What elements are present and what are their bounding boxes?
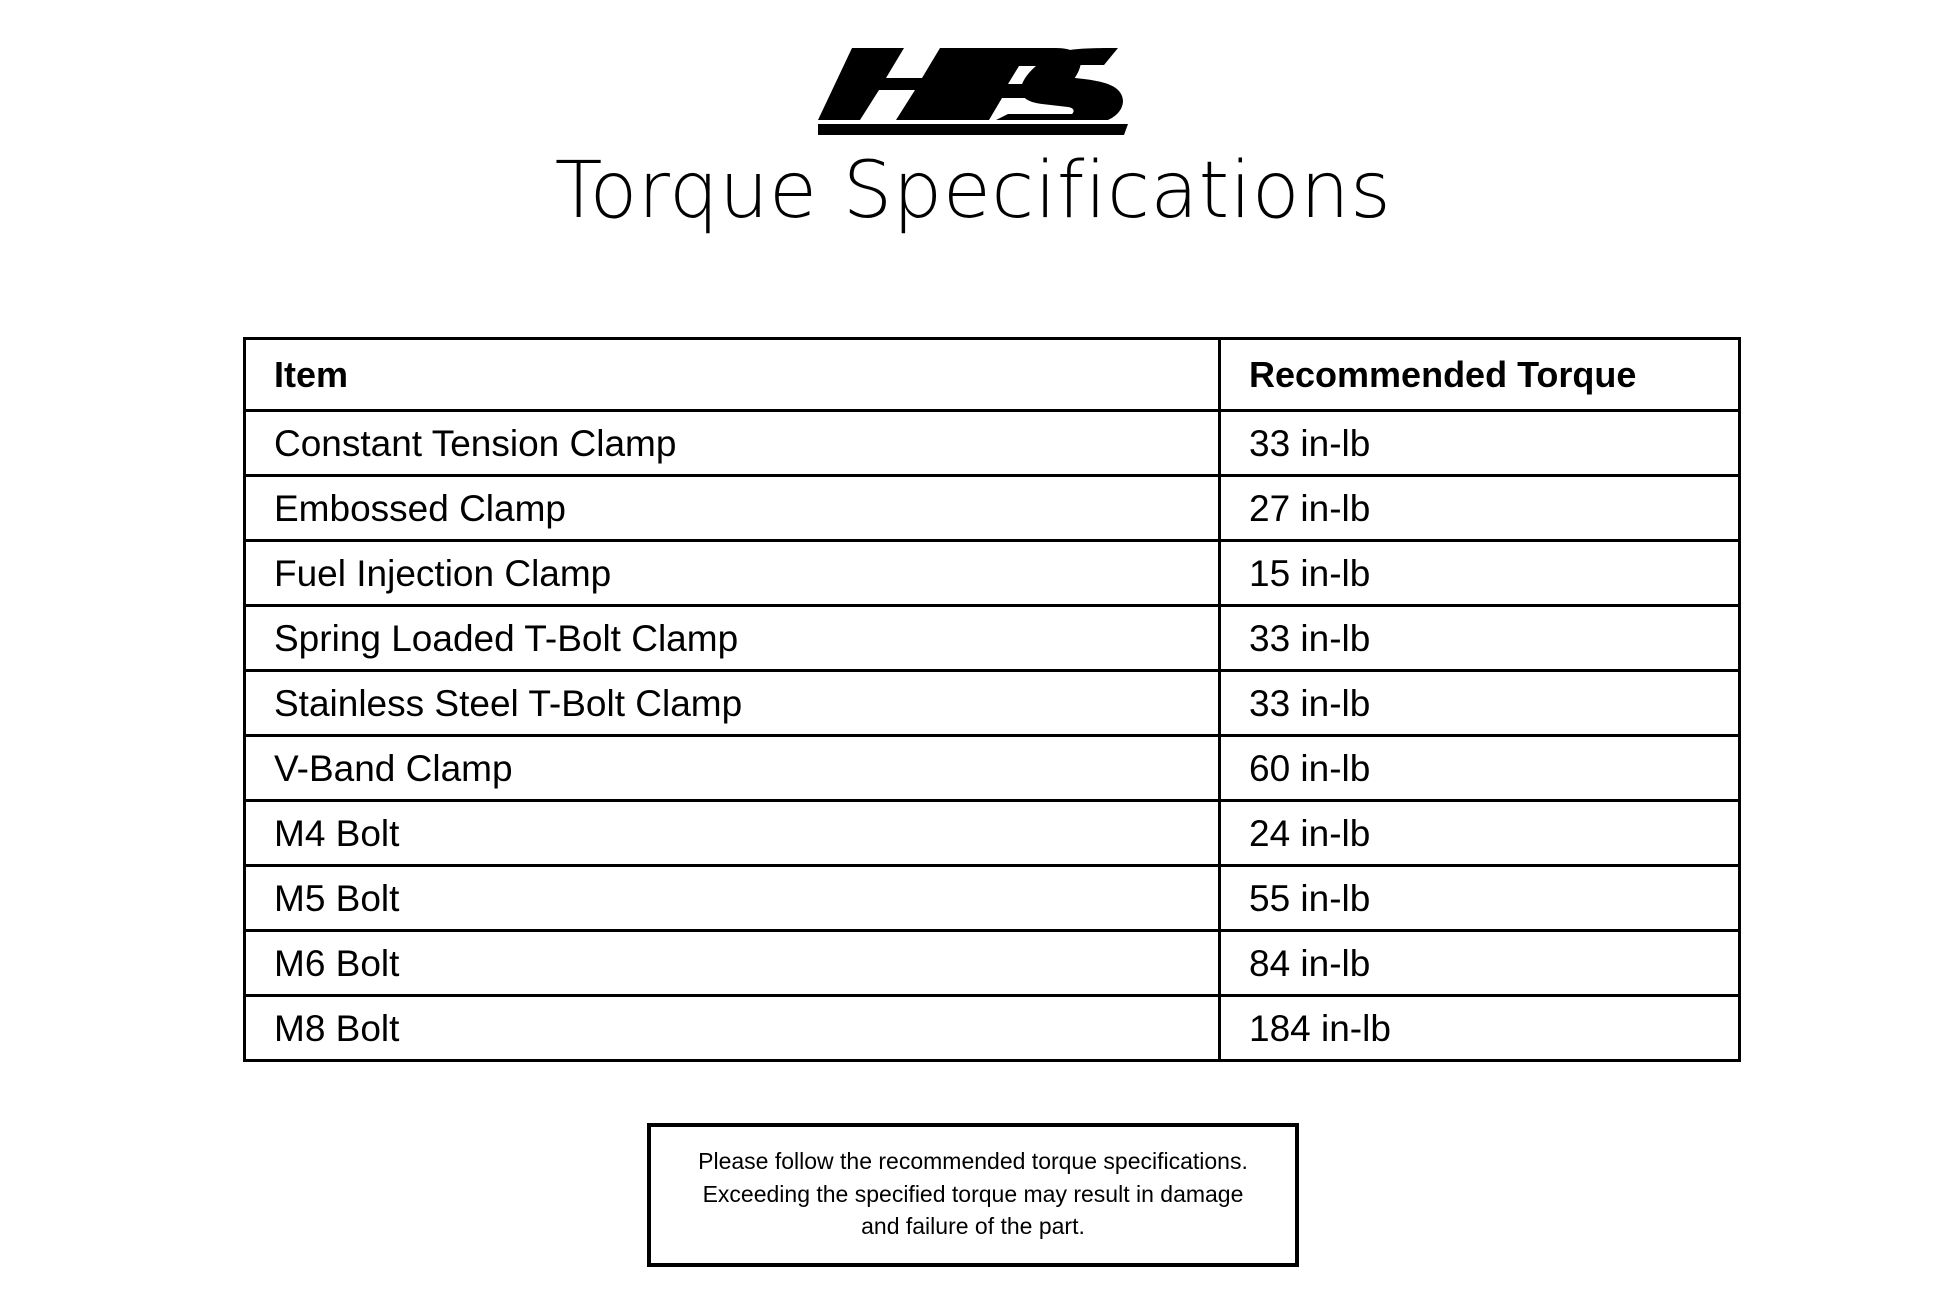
- table-row: Spring Loaded T-Bolt Clamp 33 in-lb: [245, 606, 1740, 671]
- warning-note-line: Exceeding the specified torque may resul…: [665, 1178, 1281, 1211]
- cell-torque: 184 in-lb: [1220, 996, 1740, 1061]
- cell-torque: 15 in-lb: [1220, 541, 1740, 606]
- cell-item: Embossed Clamp: [245, 476, 1220, 541]
- page-title: Torque Specifications: [0, 152, 1946, 230]
- cell-item: V-Band Clamp: [245, 736, 1220, 801]
- cell-torque: 27 in-lb: [1220, 476, 1740, 541]
- cell-item: Constant Tension Clamp: [245, 411, 1220, 476]
- brand-logo: [0, 34, 1946, 139]
- cell-item: Stainless Steel T-Bolt Clamp: [245, 671, 1220, 736]
- cell-torque: 24 in-lb: [1220, 801, 1740, 866]
- table-row: Stainless Steel T-Bolt Clamp 33 in-lb: [245, 671, 1740, 736]
- cell-item: Fuel Injection Clamp: [245, 541, 1220, 606]
- warning-note-box: Please follow the recommended torque spe…: [647, 1123, 1299, 1267]
- table-row: M5 Bolt 55 in-lb: [245, 866, 1740, 931]
- torque-specifications-table: Item Recommended Torque Constant Tension…: [243, 337, 1741, 1062]
- warning-note-line: and failure of the part.: [665, 1210, 1281, 1243]
- column-header-item: Item: [245, 339, 1220, 411]
- cell-item: M5 Bolt: [245, 866, 1220, 931]
- cell-item: M6 Bolt: [245, 931, 1220, 996]
- table-header-row: Item Recommended Torque: [245, 339, 1740, 411]
- hps-wordmark-logo: [818, 34, 1128, 136]
- warning-note-line: Please follow the recommended torque spe…: [665, 1145, 1281, 1178]
- cell-item: Spring Loaded T-Bolt Clamp: [245, 606, 1220, 671]
- cell-item: M8 Bolt: [245, 996, 1220, 1061]
- table-row: V-Band Clamp 60 in-lb: [245, 736, 1740, 801]
- cell-torque: 60 in-lb: [1220, 736, 1740, 801]
- table-row: Constant Tension Clamp 33 in-lb: [245, 411, 1740, 476]
- table-row: M4 Bolt 24 in-lb: [245, 801, 1740, 866]
- hps-logo-icon: [818, 34, 1128, 136]
- cell-item: M4 Bolt: [245, 801, 1220, 866]
- column-header-recommended-torque: Recommended Torque: [1220, 339, 1740, 411]
- table-row: Fuel Injection Clamp 15 in-lb: [245, 541, 1740, 606]
- cell-torque: 33 in-lb: [1220, 671, 1740, 736]
- cell-torque: 33 in-lb: [1220, 411, 1740, 476]
- cell-torque: 33 in-lb: [1220, 606, 1740, 671]
- table-row: M8 Bolt 184 in-lb: [245, 996, 1740, 1061]
- table-row: Embossed Clamp 27 in-lb: [245, 476, 1740, 541]
- cell-torque: 84 in-lb: [1220, 931, 1740, 996]
- table-row: M6 Bolt 84 in-lb: [245, 931, 1740, 996]
- warning-note: Please follow the recommended torque spe…: [0, 1123, 1946, 1267]
- cell-torque: 55 in-lb: [1220, 866, 1740, 931]
